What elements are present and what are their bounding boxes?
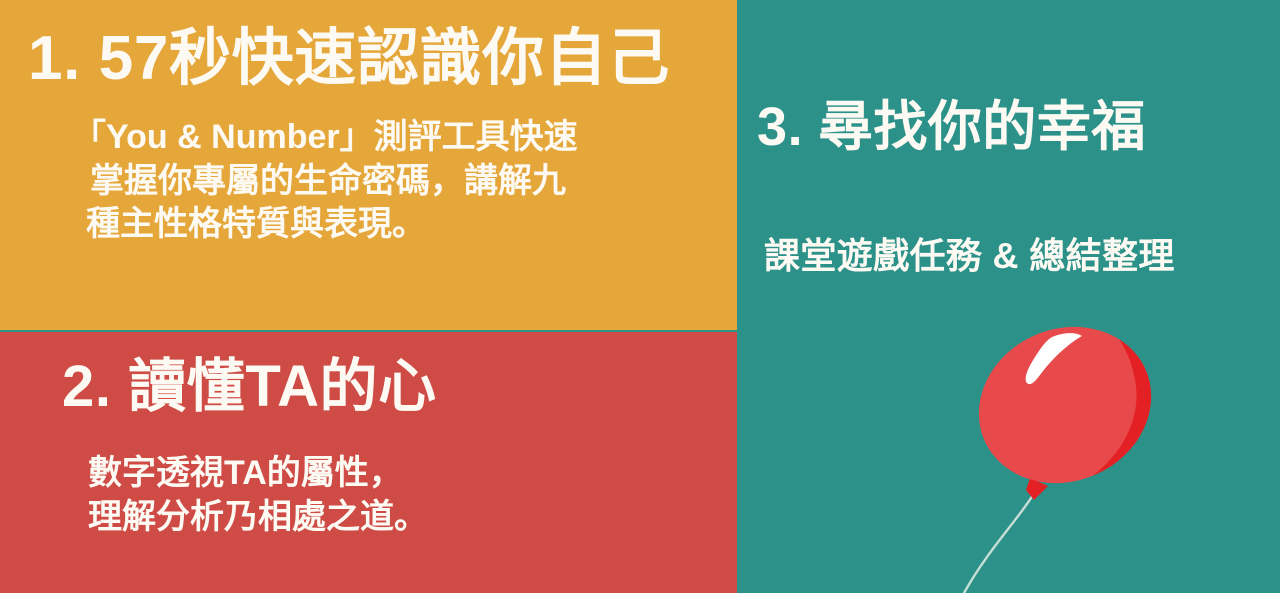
section-three-body-line-1: 課堂遊戲任務 & 總結整理 (764, 238, 1175, 274)
section-one-body-line-1: 「You & Number」測評工具快速 (72, 116, 722, 160)
section-two-body-line-2: 理解分析乃相處之道。 (88, 496, 688, 540)
section-two-body: 數字透視TA的屬性， 理解分析乃相處之道。 (88, 452, 688, 539)
section-two-body-line-1: 數字透視TA的屬性， (88, 452, 688, 496)
section-two-heading: 2. 讀懂TA的心 (62, 358, 437, 416)
panel-section-three (740, 0, 1280, 593)
section-three-heading: 3. 尋找你的幸福 (757, 100, 1146, 154)
section-one-body-line-3: 種主性格特質與表現。 (72, 203, 722, 247)
section-one-body: 「You & Number」測評工具快速 掌握你專屬的生命密碼，講解九 種主性格… (72, 116, 722, 247)
section-one-heading: 1. 57秒快速認識你自己 (28, 28, 670, 90)
poster-canvas: 1. 57秒快速認識你自己 「You & Number」測評工具快速 掌握你專屬… (0, 0, 1280, 593)
section-one-body-line-2: 掌握你專屬的生命密碼，講解九 (72, 160, 722, 204)
